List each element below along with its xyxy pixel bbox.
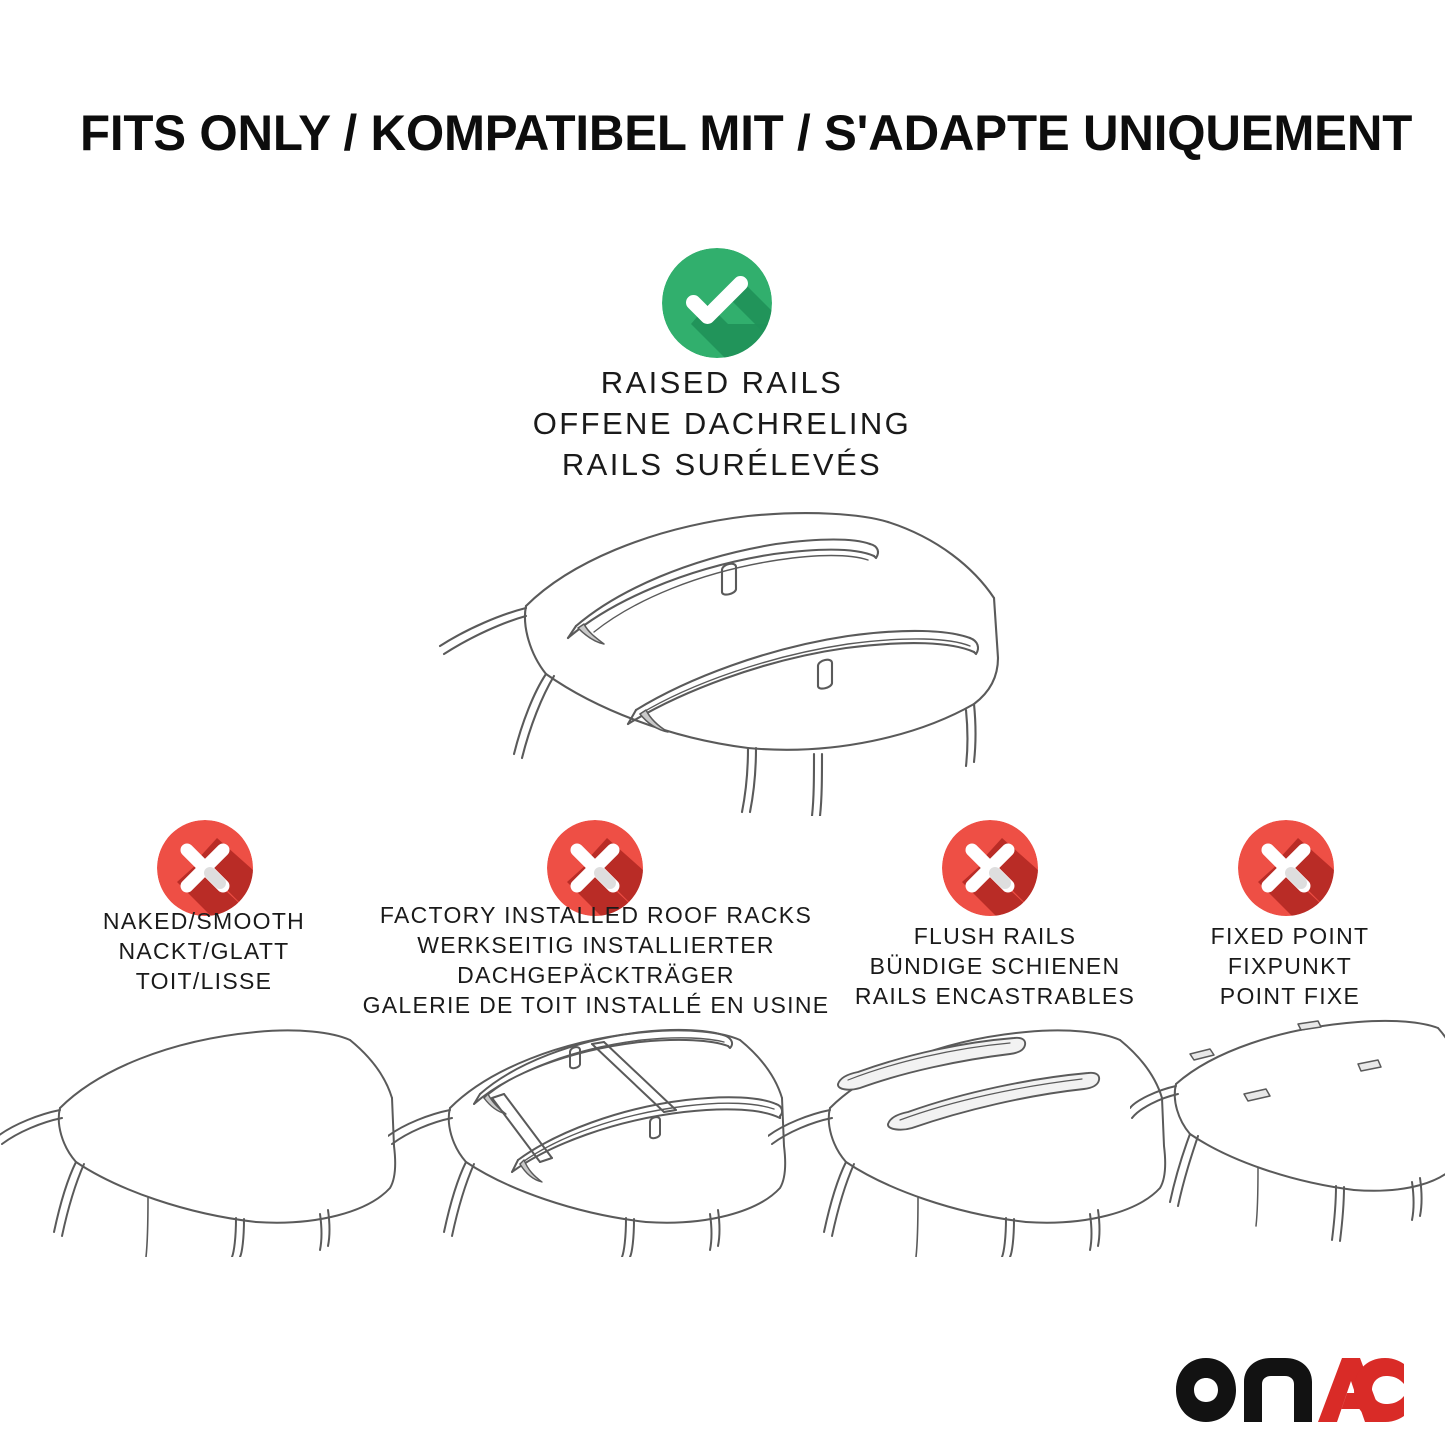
incompatible-line: TOIT/LISSE — [18, 966, 390, 996]
logo-letter-o — [1176, 1358, 1236, 1422]
incompatible-line: NACKT/GLATT — [18, 936, 390, 966]
incompatible-line: DACHGEPÄCKTRÄGER — [356, 960, 836, 990]
incompatible-line: FIXPUNKT — [1155, 951, 1425, 981]
compatible-line: RAILS SURÉLEVÉS — [422, 444, 1022, 485]
x-circle-icon — [942, 820, 1038, 916]
incompatible-line: BÜNDIGE SCHIENEN — [820, 951, 1170, 981]
infographic-page: FITS ONLY / KOMPATIBEL MIT / S'ADAPTE UN… — [0, 0, 1445, 1445]
flush-rails-roof-illustration — [768, 1012, 1168, 1257]
raised-rails-roof-illustration — [418, 486, 1028, 816]
compatible-caption: RAISED RAILS OFFENE DACHRELING RAILS SUR… — [422, 362, 1022, 485]
incompatible-caption: FLUSH RAILS BÜNDIGE SCHIENEN RAILS ENCAS… — [820, 921, 1170, 1011]
incompatible-line: FACTORY INSTALLED ROOF RACKS — [356, 900, 836, 930]
compatible-line: OFFENE DACHRELING — [422, 403, 1022, 444]
incompatible-caption: FACTORY INSTALLED ROOF RACKS WERKSEITIG … — [356, 900, 836, 1020]
incompatible-line: NAKED/SMOOTH — [18, 906, 390, 936]
naked-smooth-roof-illustration — [0, 1012, 398, 1257]
page-title: FITS ONLY / KOMPATIBEL MIT / S'ADAPTE UN… — [80, 104, 1351, 162]
incompatible-line: FLUSH RAILS — [820, 921, 1170, 951]
incompatible-line: POINT FIXE — [1155, 981, 1425, 1011]
logo-letter-m — [1244, 1358, 1312, 1422]
factory-roof-racks-illustration — [388, 1012, 788, 1257]
incompatible-line: FIXED POINT — [1155, 921, 1425, 951]
incompatible-line: RAILS ENCASTRABLES — [820, 981, 1170, 1011]
fixed-point-roof-illustration — [1130, 1012, 1445, 1257]
incompatible-line: WERKSEITIG INSTALLIERTER — [356, 930, 836, 960]
incompatible-caption: NAKED/SMOOTH NACKT/GLATT TOIT/LISSE — [18, 906, 390, 996]
incompatible-caption: FIXED POINT FIXPUNKT POINT FIXE — [1155, 921, 1425, 1011]
x-circle-icon — [1238, 820, 1334, 916]
check-circle-icon — [662, 248, 772, 358]
compatible-line: RAISED RAILS — [422, 362, 1022, 403]
omac-logo — [1172, 1354, 1404, 1426]
x-circle-icon — [157, 820, 253, 916]
